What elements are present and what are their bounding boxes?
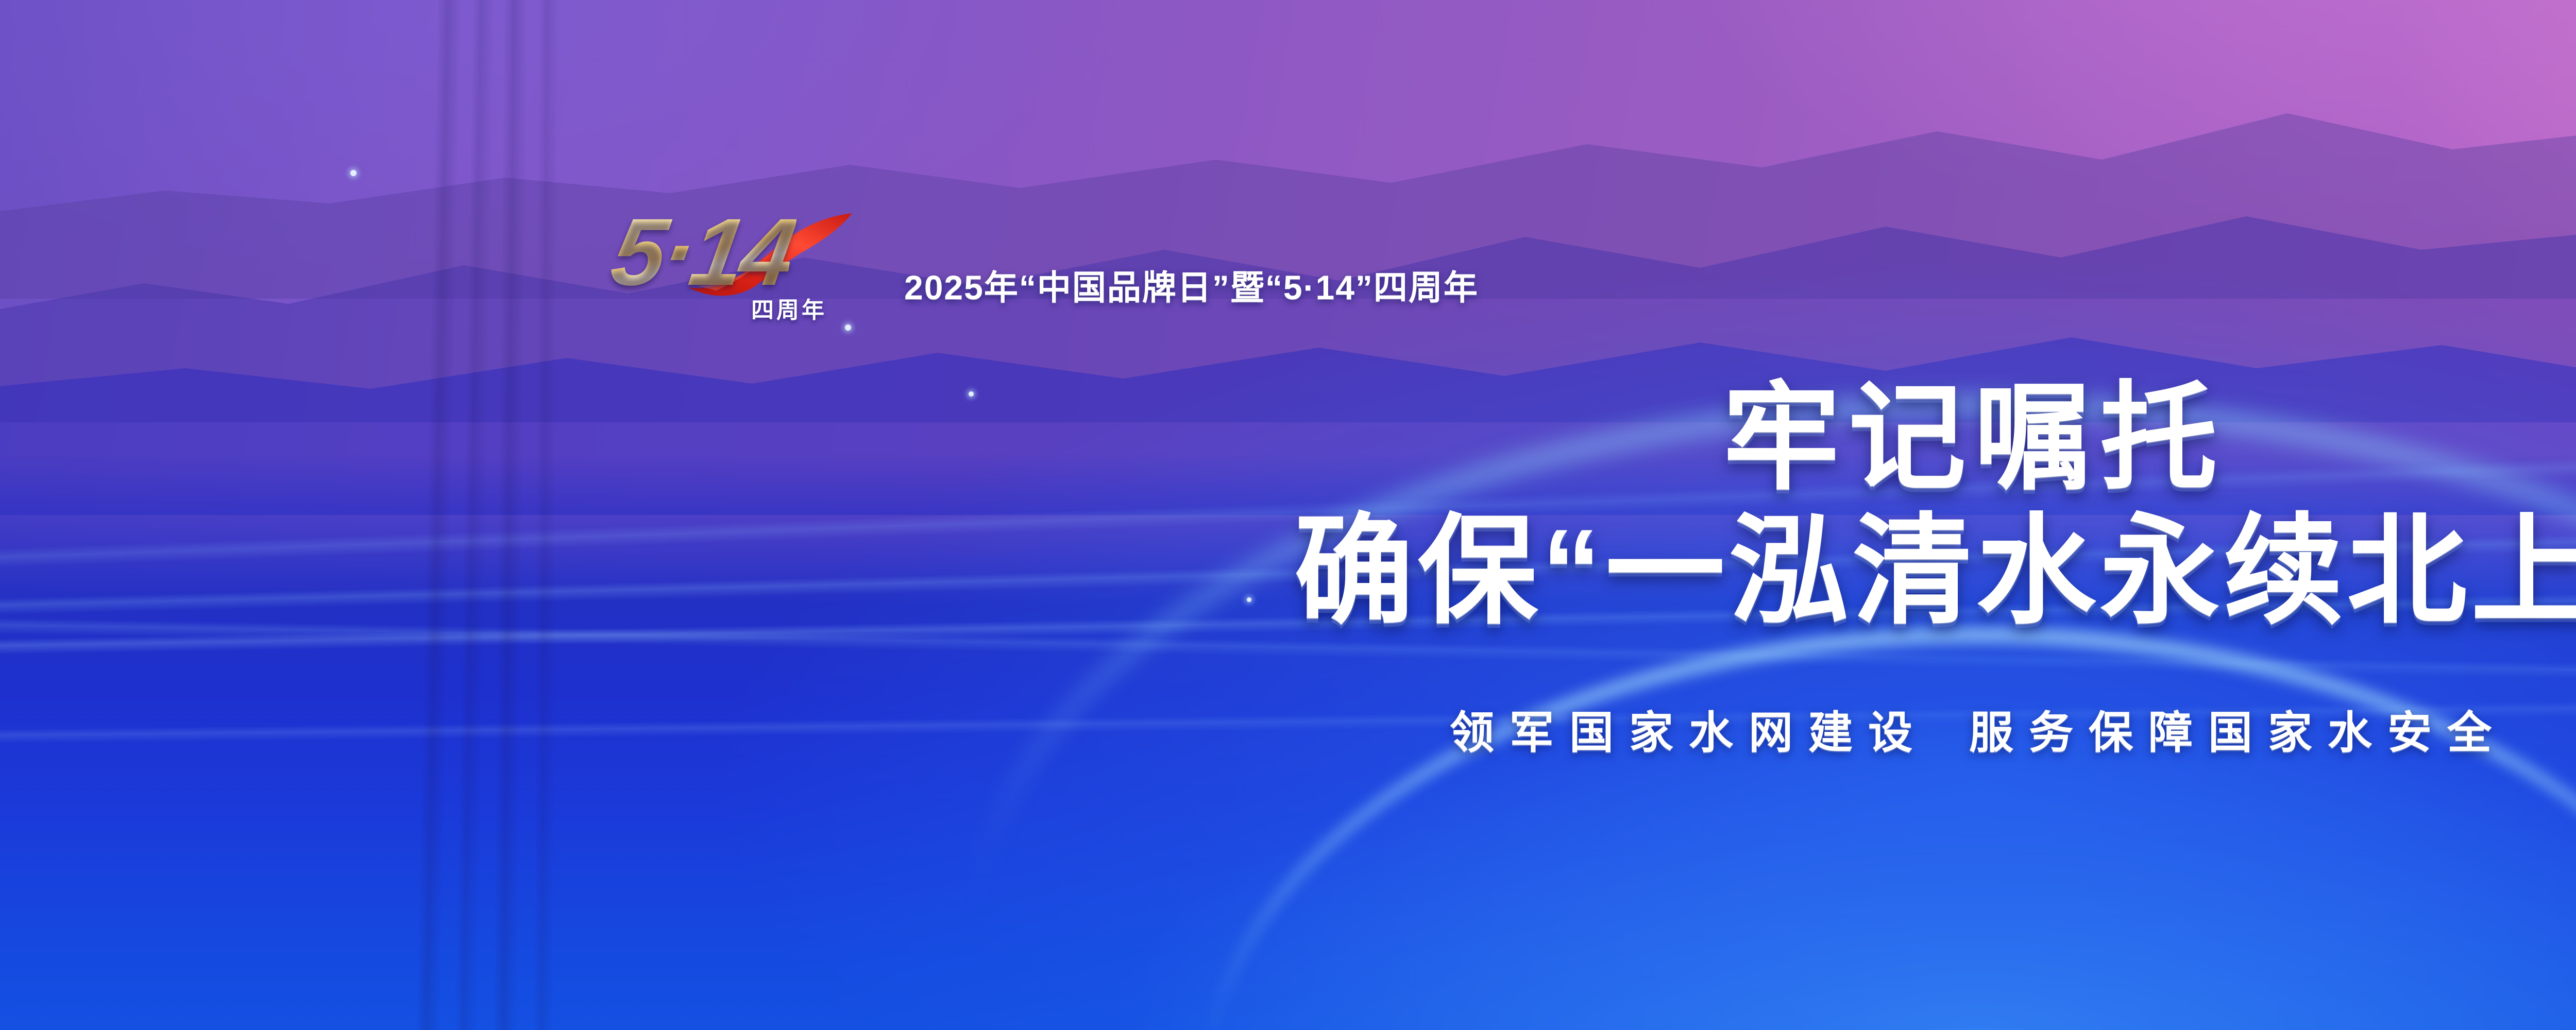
anniversary-numerals: 5·14	[605, 205, 799, 300]
event-title-line: 2025年“中国品牌日”暨“5·14”四周年	[904, 260, 1479, 310]
bottom-slogan-right: 服务保障国家水安全	[1969, 708, 2507, 758]
bottom-slogan-left: 领军国家水网建设	[1450, 708, 1928, 758]
headline-block: 牢记嘱托 确保“一泓清水永续北上”	[0, 379, 2576, 632]
anniversary-mark: 5·14 四周年	[613, 205, 850, 339]
headline-line-1: 牢记嘱托	[0, 379, 2576, 499]
anniversary-sub-label: 四周年	[751, 291, 827, 324]
poster-canvas: 5·14 四周年 2025年“中国品牌日”暨“5·14”四周年	[0, 0, 2576, 1030]
headline-line-2: 确保“一泓清水永续北上”	[0, 511, 2576, 633]
bottom-slogan: 领军国家水网建设服务保障国家水安全	[0, 696, 2576, 761]
poster-content: 5·14 四周年 2025年“中国品牌日”暨“5·14”四周年	[0, 0, 2576, 1030]
